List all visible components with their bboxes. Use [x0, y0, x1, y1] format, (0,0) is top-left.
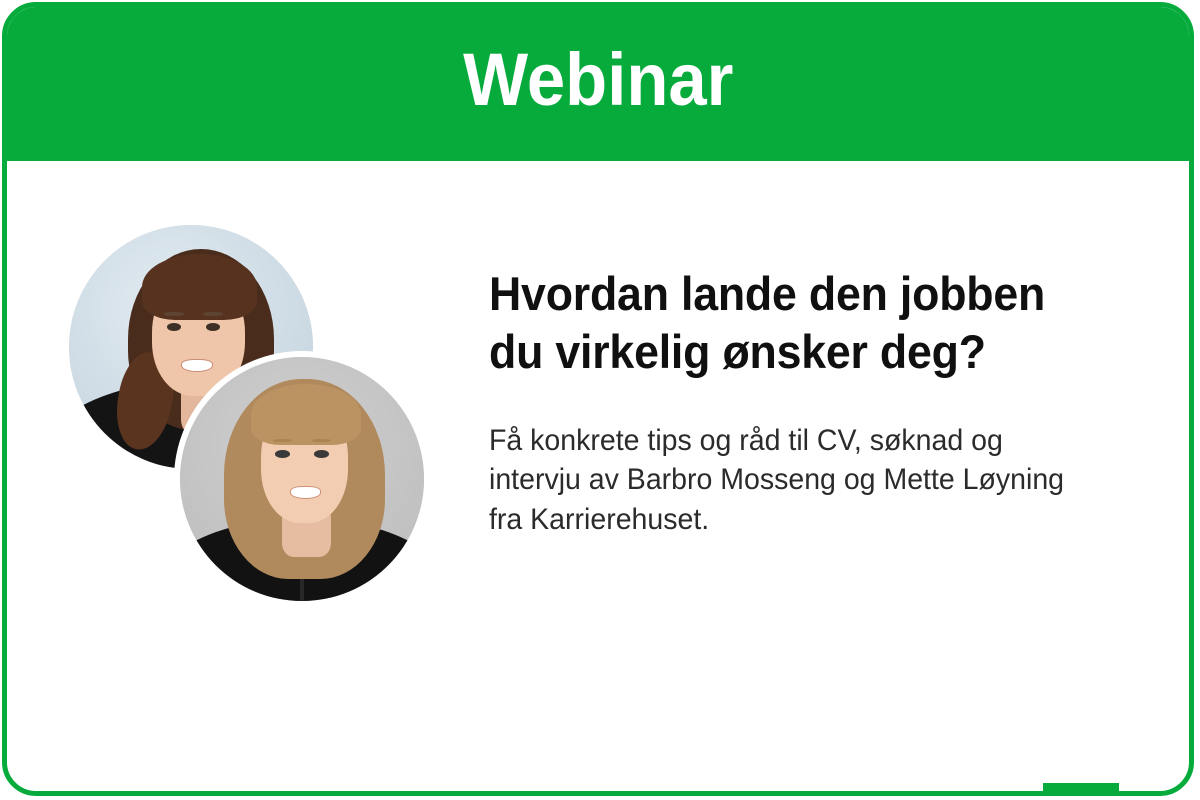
- portrait-eye-left: [275, 450, 290, 458]
- ys-logo-icon: [1043, 783, 1119, 796]
- ys-logo: [1043, 783, 1119, 796]
- webinar-card: Webinar: [2, 2, 1194, 796]
- portrait-eye-left: [167, 323, 182, 331]
- portrait-mette-loyning: [180, 357, 424, 601]
- portrait-brow-right: [203, 312, 223, 316]
- portrait-eye-right: [206, 323, 221, 331]
- subtext: Få konkrete tips og råd til CV, søknad o…: [489, 382, 1097, 541]
- header-title: Webinar: [463, 43, 733, 121]
- portrait-eye-right: [314, 450, 329, 458]
- portrait-mouth: [290, 486, 321, 498]
- portrait-hair-top: [142, 254, 257, 320]
- card-header: Webinar: [2, 2, 1194, 161]
- headline: Hvordan lande den jobben du virkelig øns…: [489, 265, 1097, 382]
- portrait-brow-left: [164, 312, 184, 316]
- text-column: Hvordan lande den jobben du virkelig øns…: [489, 265, 1129, 540]
- card-body: Hvordan lande den jobben du virkelig øns…: [7, 161, 1189, 791]
- portrait-group: [65, 219, 435, 609]
- portrait-hair-top: [251, 384, 361, 445]
